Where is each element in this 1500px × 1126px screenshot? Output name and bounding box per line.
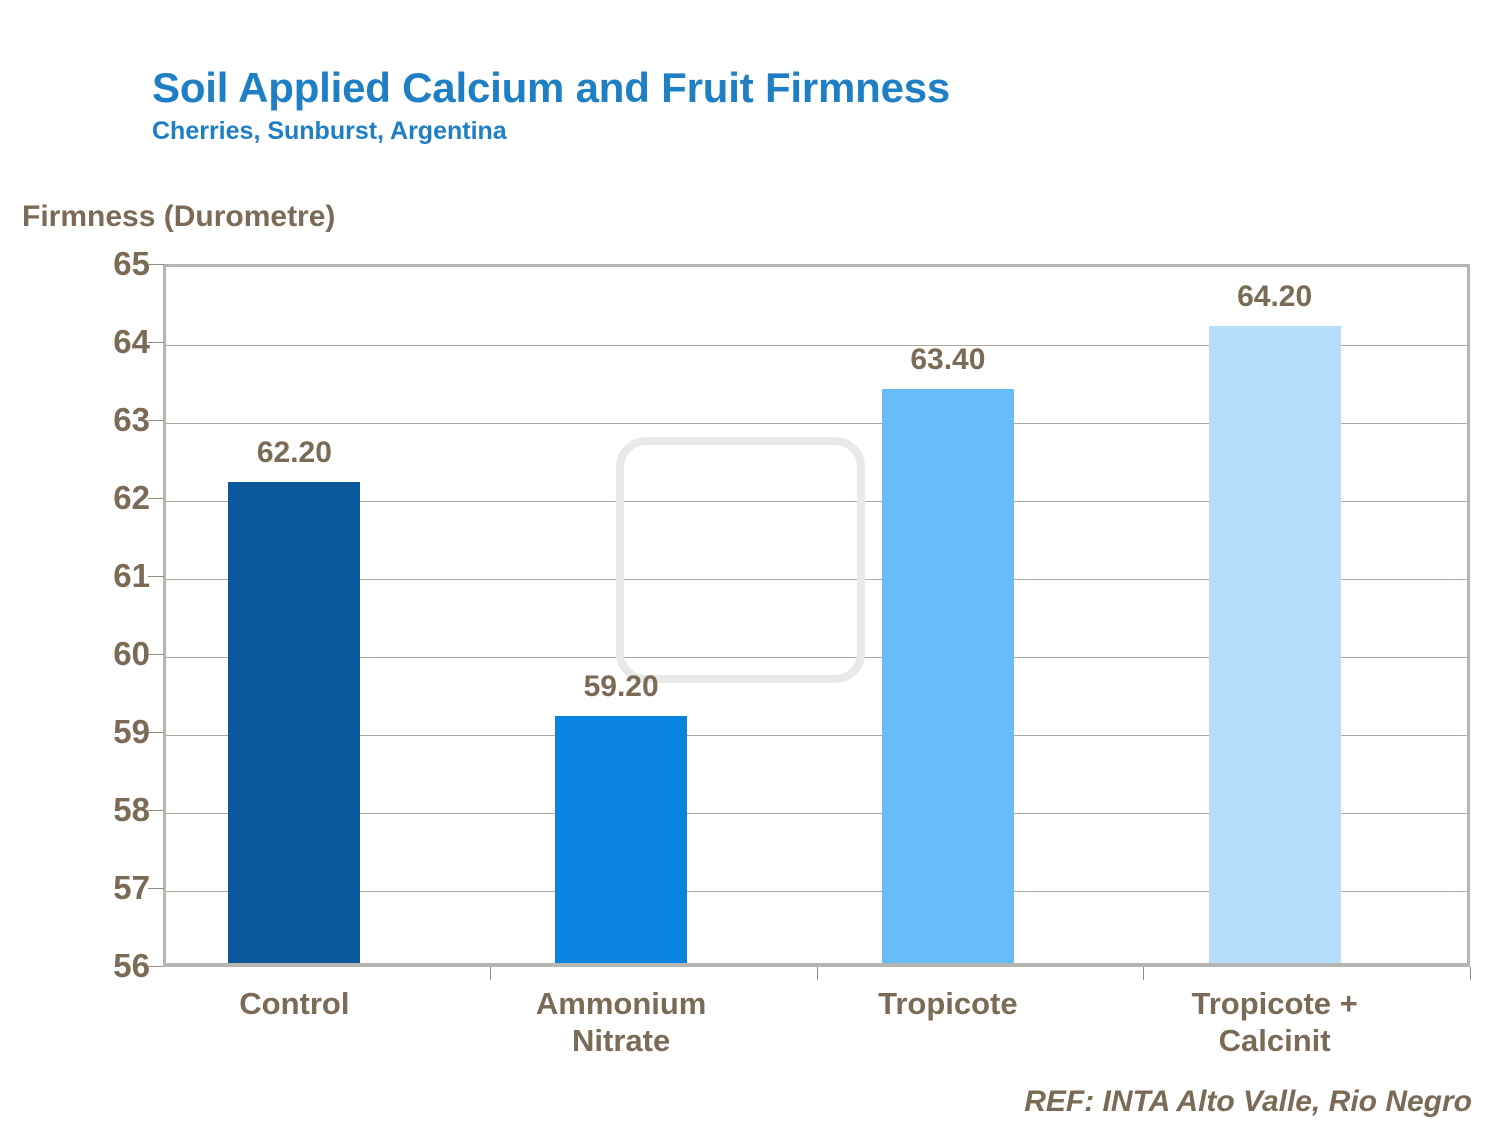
- y-tick-label: 60: [70, 635, 150, 673]
- gridline: [166, 813, 1467, 814]
- y-tick-mark: [148, 420, 164, 421]
- y-tick-mark: [148, 732, 164, 733]
- x-category-label-line: Control: [129, 986, 459, 1023]
- y-tick-label: 63: [70, 401, 150, 439]
- plot-area: [163, 264, 1470, 966]
- gridline: [166, 345, 1467, 346]
- x-tick-mark: [1143, 967, 1144, 980]
- y-tick-label: 62: [70, 479, 150, 517]
- title-block: Soil Applied Calcium and Fruit Firmness …: [152, 66, 1352, 144]
- x-tick-mark: [817, 967, 818, 980]
- x-category-label-line: Tropicote +: [1110, 986, 1440, 1023]
- chart-subtitle: Cherries, Sunburst, Argentina: [152, 118, 1352, 144]
- gridline: [166, 423, 1467, 424]
- gridlines: [166, 267, 1467, 963]
- x-tick-mark: [490, 967, 491, 980]
- y-tick-label: 64: [70, 323, 150, 361]
- y-tick-mark: [148, 498, 164, 499]
- y-tick-mark: [148, 264, 164, 265]
- y-tick-label: 61: [70, 557, 150, 595]
- x-category-label: AmmoniumNitrate: [456, 986, 786, 1059]
- y-tick-label: 59: [70, 713, 150, 751]
- y-tick-label: 58: [70, 791, 150, 829]
- y-tick-label: 65: [70, 245, 150, 283]
- y-tick-mark: [148, 654, 164, 655]
- y-tick-label: 57: [70, 869, 150, 907]
- x-category-label-line: Ammonium: [456, 986, 786, 1023]
- x-category-label-line: Nitrate: [456, 1023, 786, 1060]
- x-tick-mark: [1470, 967, 1471, 980]
- y-tick-label: 56: [70, 947, 150, 985]
- reference-note: REF: INTA Alto Valle, Rio Negro: [1024, 1085, 1472, 1119]
- y-tick-mark: [148, 810, 164, 811]
- x-category-label-line: Tropicote: [783, 986, 1113, 1023]
- y-tick-mark: [148, 966, 164, 967]
- gridline: [166, 501, 1467, 502]
- y-axis-title: Firmness (Durometre): [22, 200, 335, 234]
- gridline: [166, 735, 1467, 736]
- gridline: [166, 657, 1467, 658]
- gridline: [166, 891, 1467, 892]
- y-tick-mark: [148, 576, 164, 577]
- y-tick-mark: [148, 342, 164, 343]
- gridline: [166, 579, 1467, 580]
- y-tick-mark: [148, 888, 164, 889]
- x-category-label: Tropicote: [783, 986, 1113, 1023]
- x-category-label: Tropicote +Calcinit: [1110, 986, 1440, 1059]
- chart-title: Soil Applied Calcium and Fruit Firmness: [152, 66, 1352, 110]
- x-category-label: Control: [129, 986, 459, 1023]
- x-category-label-line: Calcinit: [1110, 1023, 1440, 1060]
